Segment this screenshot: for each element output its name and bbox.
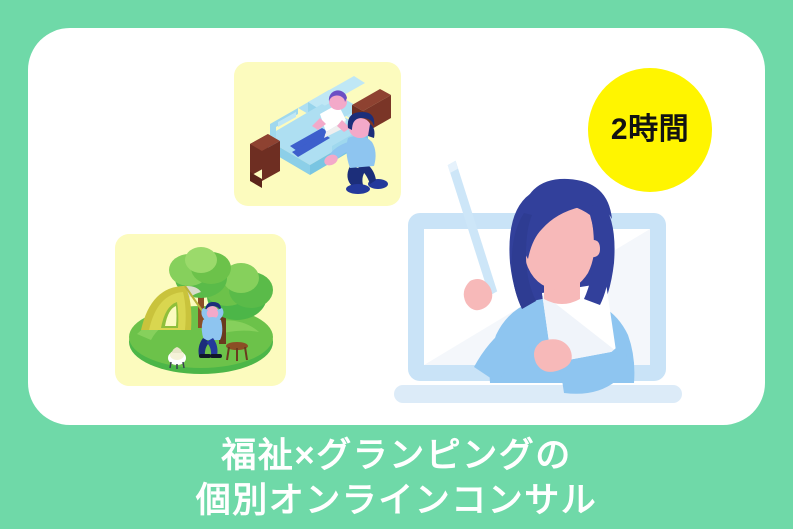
poster-root: 2時間 (0, 0, 793, 529)
caption-line-1: 福祉×グランピングの (221, 434, 571, 478)
care-bed-illustration (234, 62, 401, 206)
poster-caption: 福祉×グランピングの 個別オンラインコンサル (0, 428, 793, 529)
duration-badge-label: 2時間 (611, 115, 689, 145)
caption-line-2: 個別オンラインコンサル (196, 479, 598, 523)
glamping-illustration-tile (115, 234, 286, 386)
care-bed-illustration-tile (234, 62, 401, 206)
glamping-illustration (115, 234, 286, 386)
duration-badge: 2時間 (588, 68, 712, 192)
